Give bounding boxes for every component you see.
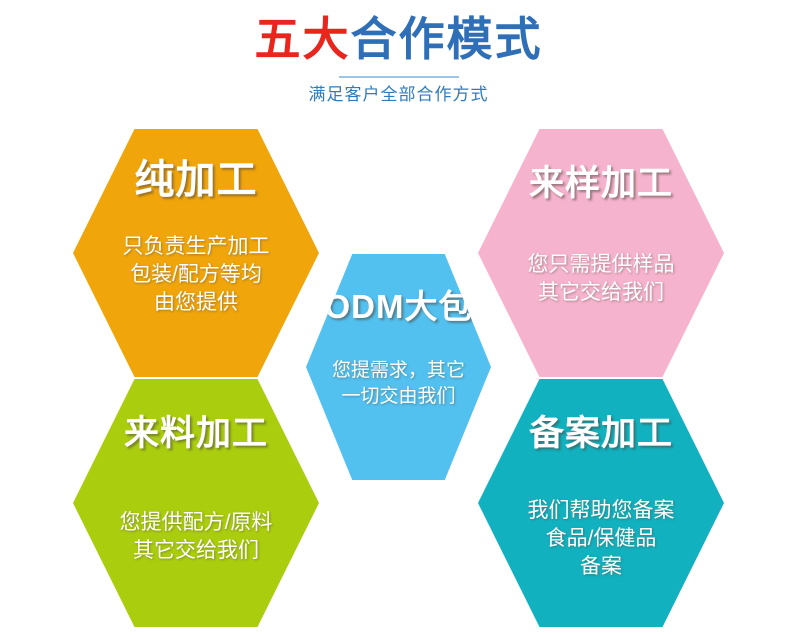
hex-card-material-processing[interactable]: 来料加工 您提供配方/原料 其它交给我们 (73, 379, 319, 627)
hex-card-pure-processing[interactable]: 纯加工 只负责生产加工 包装/配方等均 由您提供 (73, 129, 319, 377)
hex-desc-sample-processing: 您只需提供样品 其它交给我们 (528, 207, 675, 307)
hex-desc-line: 您提供配方/原料 (120, 509, 273, 537)
hex-desc-line: 一切交由我们 (332, 384, 465, 410)
hex-desc-pure-processing: 只负责生产加工 包装/配方等均 由您提供 (123, 203, 270, 317)
hex-desc-line: 您只需提供样品 (528, 251, 675, 279)
hex-desc-line: 包装/配方等均 (123, 261, 270, 289)
hex-desc-line: 由您提供 (123, 289, 270, 317)
hex-desc-odm-full-package: 您提需求，其它 一切交由我们 (332, 330, 465, 410)
hex-title-sample-processing: 来样加工 (529, 129, 673, 207)
hex-card-record-filing-processing[interactable]: 备案加工 我们帮助您备案 食品/保健品 备案 (478, 379, 724, 627)
hex-desc-line: 只负责生产加工 (123, 233, 270, 261)
hex-desc-line: 食品/保健品 (528, 525, 675, 553)
hex-title-material-processing: 来料加工 (124, 379, 268, 457)
hex-title-record-filing-processing: 备案加工 (529, 379, 673, 457)
hex-desc-line: 我们帮助您备案 (528, 497, 675, 525)
hex-desc-line: 其它交给我们 (120, 537, 273, 565)
hex-desc-line: 您提需求，其它 (332, 358, 465, 384)
hex-desc-line: 备案 (528, 553, 675, 581)
hex-card-sample-processing[interactable]: 来样加工 您只需提供样品 其它交给我们 (478, 129, 724, 377)
hex-title-pure-processing: 纯加工 (135, 129, 258, 203)
hex-desc-material-processing: 您提供配方/原料 其它交给我们 (120, 457, 273, 565)
hexagon-diagram: 纯加工 只负责生产加工 包装/配方等均 由您提供 来样加工 您只需提供样品 其它… (0, 0, 797, 635)
hex-desc-line: 其它交给我们 (528, 279, 675, 307)
hex-desc-record-filing-processing: 我们帮助您备案 食品/保健品 备案 (528, 457, 675, 581)
